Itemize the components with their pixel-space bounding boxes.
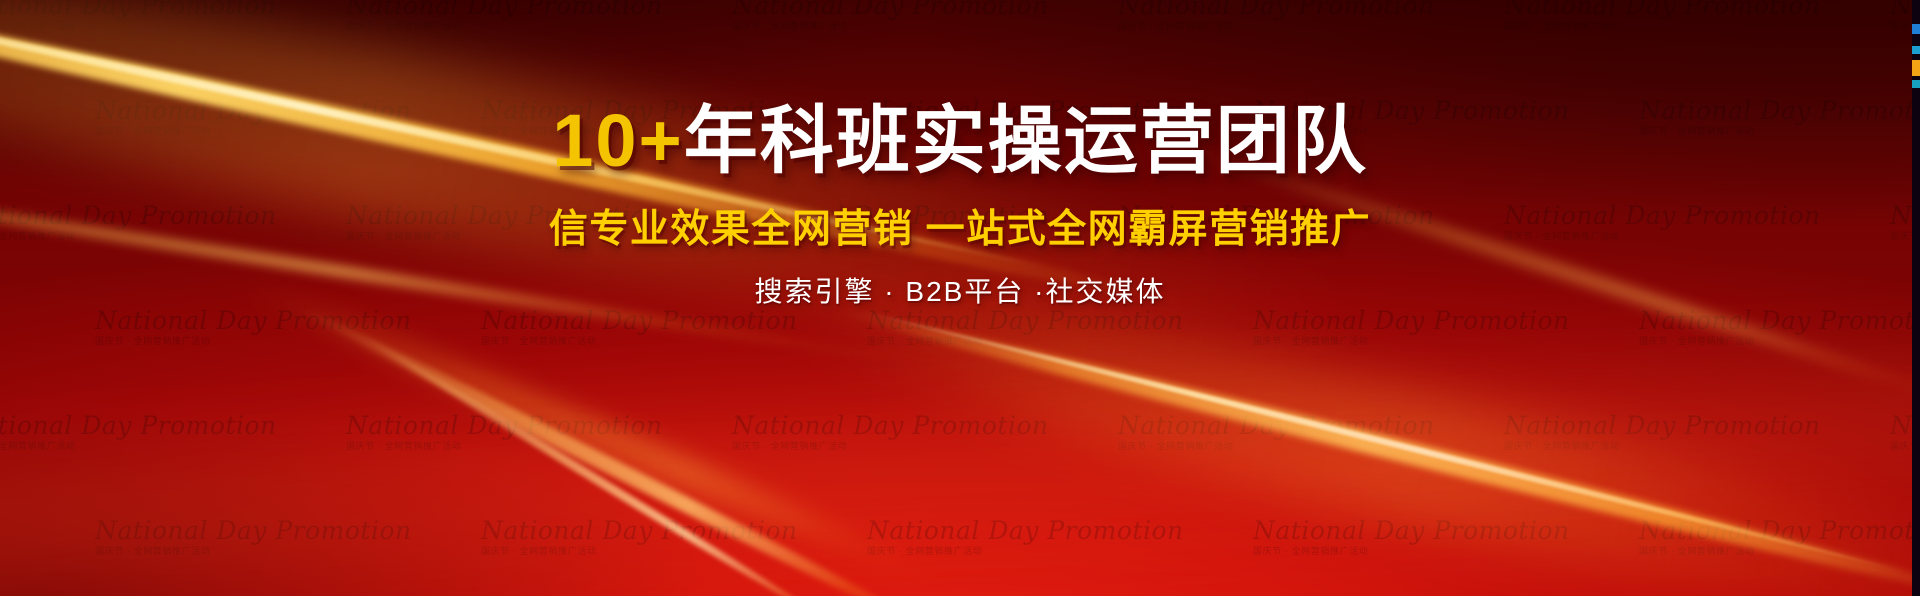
right-edge-strip	[1912, 0, 1920, 596]
headline: 10+年科班实操运营团队	[552, 104, 1368, 178]
headline-text: 年科班实操运营团队	[684, 99, 1368, 182]
edge-pixel-cyan	[1912, 46, 1920, 54]
edge-pixel-teal	[1912, 80, 1920, 88]
headline-number: 10+	[552, 99, 684, 182]
promo-banner: National Day Promotion国庆节 · 全网营销推广活动Nati…	[0, 0, 1920, 596]
edge-pixel-orange	[1912, 60, 1920, 76]
tagline: 搜索引擎 · B2B平台 ·社交媒体	[755, 278, 1166, 306]
subtitle: 信专业效果全网营销 一站式全网霸屏营销推广	[549, 210, 1371, 249]
edge-pixel-blue	[1912, 24, 1920, 34]
banner-content: 10+年科班实操运营团队 信专业效果全网营销 一站式全网霸屏营销推广 搜索引擎 …	[0, 0, 1920, 596]
